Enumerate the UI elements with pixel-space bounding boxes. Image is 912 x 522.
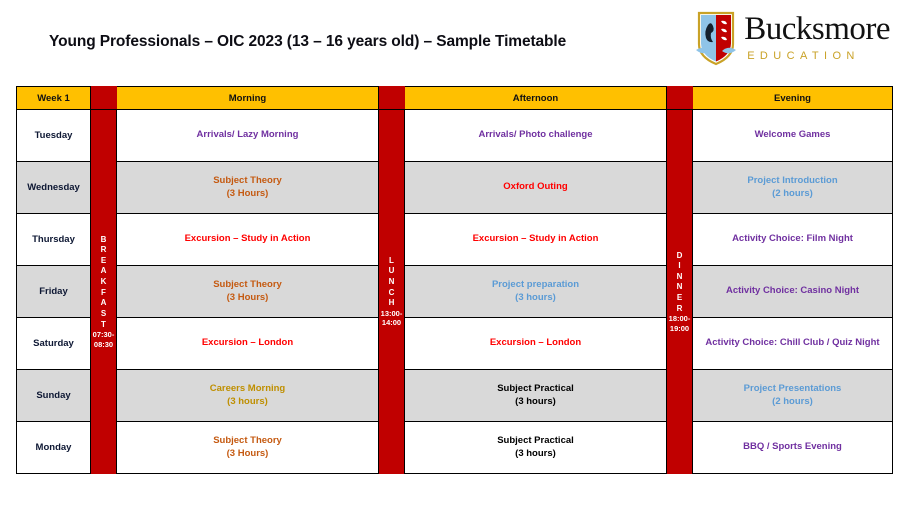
meal-letter: U <box>389 266 395 277</box>
cell-text: Project Introduction <box>747 175 837 186</box>
meal-letter: A <box>101 298 107 309</box>
cell-text: Project preparation <box>492 279 579 290</box>
cell-subtext: (3 hours) <box>117 396 378 409</box>
header-breakfast-spacer <box>91 87 117 110</box>
cell-text: Subject Theory <box>213 175 282 186</box>
timetable: Week 1 Morning Afternoon Evening Tuesday… <box>16 86 893 474</box>
meal-letter: L <box>389 256 394 267</box>
cell-afternoon: Oxford Outing <box>405 162 667 214</box>
table-row: FridaySubject Theory(3 Hours)Project pre… <box>17 266 893 318</box>
meal-label-dinner: DINNER18:00-19:00 <box>667 110 692 474</box>
cell-subtext: (3 hours) <box>405 396 666 409</box>
cell-text: Activity Choice: Chill Club / Quiz Night <box>705 337 879 348</box>
meal-label-breakfast: BREAKFAST07:30-08:30 <box>91 110 116 474</box>
meal-letter: N <box>389 277 395 288</box>
cell-evening: Activity Choice: Film Night <box>693 214 893 266</box>
cell-evening: Welcome Games <box>693 110 893 162</box>
meal-time-to: 08:30 <box>94 340 113 349</box>
meal-column-dinner: DINNER18:00-19:00 <box>667 110 693 474</box>
cell-text: Excursion – London <box>490 337 581 348</box>
meal-letter: R <box>677 304 683 315</box>
meal-time-to: 14:00 <box>382 318 401 327</box>
header-afternoon: Afternoon <box>405 87 667 110</box>
header-dinner-spacer <box>667 87 693 110</box>
bucksmore-logo: Bucksmore EDUCATION <box>695 10 890 66</box>
meal-time-from: 07:30- <box>93 330 115 339</box>
meal-label-lunch: LUNCH13:00-14:00 <box>379 110 404 474</box>
cell-text: Welcome Games <box>755 129 831 140</box>
meal-letter: B <box>101 235 107 246</box>
cell-text: Careers Morning <box>210 383 286 394</box>
meal-letter: S <box>101 309 106 320</box>
timetable-header-row: Week 1 Morning Afternoon Evening <box>17 87 893 110</box>
meal-letter: D <box>677 251 683 262</box>
cell-text: Project Presentations <box>744 383 842 394</box>
day-label-sunday: Sunday <box>17 370 91 422</box>
meal-letter: N <box>677 272 683 283</box>
table-row: SaturdayExcursion – LondonExcursion – Lo… <box>17 318 893 370</box>
logo-tagline: EDUCATION <box>747 51 860 62</box>
table-row: MondaySubject Theory(3 Hours)Subject Pra… <box>17 422 893 474</box>
cell-afternoon: Excursion – Study in Action <box>405 214 667 266</box>
meal-letter: R <box>101 245 107 256</box>
cell-subtext: (2 hours) <box>693 188 892 201</box>
day-label-tuesday: Tuesday <box>17 110 91 162</box>
cell-text: Subject Theory <box>213 435 282 446</box>
cell-evening: Project Presentations(2 hours) <box>693 370 893 422</box>
cell-text: Excursion – Study in Action <box>185 233 311 244</box>
cell-evening: Activity Choice: Chill Club / Quiz Night <box>693 318 893 370</box>
meal-letter: N <box>677 282 683 293</box>
cell-morning: Careers Morning(3 hours) <box>117 370 379 422</box>
meal-letter: C <box>389 288 395 299</box>
cell-afternoon: Subject Practical(3 hours) <box>405 370 667 422</box>
meal-time-to: 19:00 <box>670 324 689 333</box>
cell-subtext: (3 Hours) <box>117 188 378 201</box>
cell-text: Excursion – Study in Action <box>473 233 599 244</box>
cell-text: Subject Practical <box>497 383 574 394</box>
logo-wordmark: Bucksmore <box>744 14 890 45</box>
cell-morning: Excursion – Study in Action <box>117 214 379 266</box>
header-lunch-spacer <box>379 87 405 110</box>
table-row: TuesdayBREAKFAST07:30-08:30Arrivals/ Laz… <box>17 110 893 162</box>
cell-subtext: (3 Hours) <box>117 448 378 461</box>
meal-time-from: 18:00- <box>669 314 691 323</box>
cell-subtext: (2 hours) <box>693 396 892 409</box>
cell-text: Activity Choice: Film Night <box>732 233 853 244</box>
cell-subtext: (3 hours) <box>405 292 666 305</box>
cell-evening: BBQ / Sports Evening <box>693 422 893 474</box>
table-row: WednesdaySubject Theory(3 Hours)Oxford O… <box>17 162 893 214</box>
header-morning: Morning <box>117 87 379 110</box>
cell-afternoon: Project preparation(3 hours) <box>405 266 667 318</box>
cell-morning: Excursion – London <box>117 318 379 370</box>
cell-text: BBQ / Sports Evening <box>743 441 842 452</box>
cell-morning: Subject Theory(3 Hours) <box>117 422 379 474</box>
cell-subtext: (3 hours) <box>405 448 666 461</box>
meal-column-breakfast: BREAKFAST07:30-08:30 <box>91 110 117 474</box>
cell-text: Arrivals/ Photo challenge <box>478 129 592 140</box>
meal-letter: K <box>101 277 107 288</box>
cell-morning: Arrivals/ Lazy Morning <box>117 110 379 162</box>
meal-letter: H <box>389 298 395 309</box>
meal-letter: F <box>101 288 106 299</box>
meal-letter: A <box>101 266 107 277</box>
cell-evening: Activity Choice: Casino Night <box>693 266 893 318</box>
cell-morning: Subject Theory(3 Hours) <box>117 266 379 318</box>
day-label-friday: Friday <box>17 266 91 318</box>
table-row: ThursdayExcursion – Study in ActionExcur… <box>17 214 893 266</box>
meal-letter: I <box>678 261 680 272</box>
cell-text: Subject Theory <box>213 279 282 290</box>
meal-letter: E <box>677 293 682 304</box>
timetable-body: TuesdayBREAKFAST07:30-08:30Arrivals/ Laz… <box>17 110 893 474</box>
day-label-saturday: Saturday <box>17 318 91 370</box>
day-label-thursday: Thursday <box>17 214 91 266</box>
cell-afternoon: Subject Practical(3 hours) <box>405 422 667 474</box>
header-evening: Evening <box>693 87 893 110</box>
cell-afternoon: Excursion – London <box>405 318 667 370</box>
meal-column-lunch: LUNCH13:00-14:00 <box>379 110 405 474</box>
meal-letter: T <box>101 320 106 331</box>
table-row: SundayCareers Morning(3 hours)Subject Pr… <box>17 370 893 422</box>
header-week: Week 1 <box>17 87 91 110</box>
cell-text: Activity Choice: Casino Night <box>726 285 859 296</box>
cell-morning: Subject Theory(3 Hours) <box>117 162 379 214</box>
cell-text: Oxford Outing <box>503 181 567 192</box>
meal-letter: E <box>101 256 106 267</box>
page-header: Young Professionals – OIC 2023 (13 – 16 … <box>0 0 912 82</box>
page-title: Young Professionals – OIC 2023 (13 – 16 … <box>49 33 566 51</box>
cell-afternoon: Arrivals/ Photo challenge <box>405 110 667 162</box>
cell-evening: Project Introduction(2 hours) <box>693 162 893 214</box>
day-label-monday: Monday <box>17 422 91 474</box>
cell-text: Arrivals/ Lazy Morning <box>197 129 299 140</box>
day-label-wednesday: Wednesday <box>17 162 91 214</box>
shield-crest-icon <box>695 10 737 66</box>
cell-text: Subject Practical <box>497 435 574 446</box>
cell-subtext: (3 Hours) <box>117 292 378 305</box>
cell-text: Excursion – London <box>202 337 293 348</box>
meal-time-from: 13:00- <box>381 309 403 318</box>
